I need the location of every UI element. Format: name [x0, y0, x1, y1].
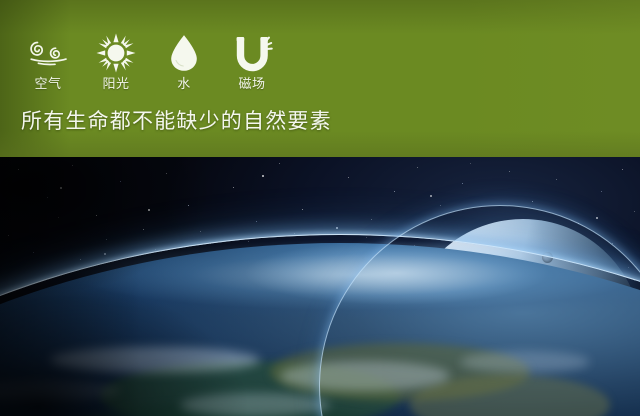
element-icon-row: 空气	[14, 33, 286, 93]
starfield-layer-bright	[0, 157, 2, 159]
space-scene	[0, 157, 640, 416]
element-label-air: 空气	[34, 77, 61, 93]
element-item-water: 水	[150, 33, 218, 93]
banner-tagline: 所有生命都不能缺少的自然要素	[21, 107, 332, 135]
element-label-sunlight: 阳光	[102, 77, 129, 93]
water-drop-icon	[168, 33, 200, 73]
promo-banner-image: 空气	[0, 0, 640, 416]
earth-atmosphere-rim	[0, 235, 640, 416]
sun-icon	[96, 33, 136, 73]
element-label-magnetic-field: 磁场	[238, 77, 265, 93]
element-label-water: 水	[177, 77, 191, 93]
element-item-sunlight: 阳光	[82, 33, 150, 93]
element-item-air: 空气	[14, 33, 82, 93]
element-item-magnetic-field: 磁场	[218, 33, 286, 93]
wind-swirl-icon	[25, 33, 71, 73]
horseshoe-magnet-icon	[231, 33, 273, 73]
